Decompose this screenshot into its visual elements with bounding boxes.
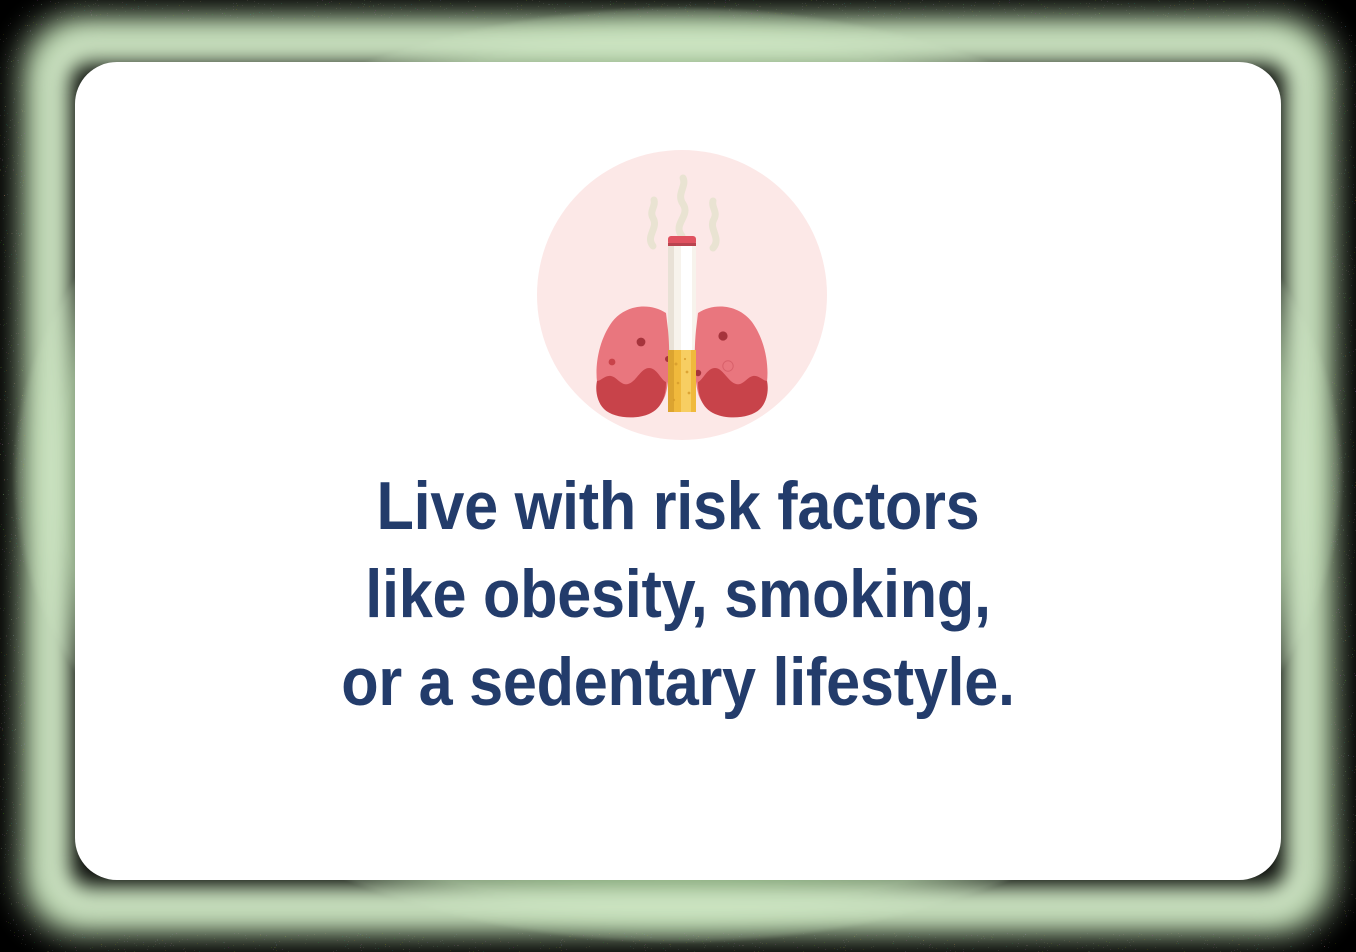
lung-spot [723, 361, 733, 371]
cigarette-paper-shade [668, 246, 674, 350]
lung-spot [718, 331, 727, 340]
cigarette-paper-highlight [681, 246, 692, 350]
smoking-lungs-icon [537, 150, 827, 440]
headline-line-3: or a sedentary lifestyle. [135, 638, 1220, 726]
headline-line-1: Live with risk factors [135, 462, 1220, 550]
content-card: Live with risk factors like obesity, smo… [75, 62, 1281, 880]
icon-container [537, 150, 827, 440]
lung-spot [637, 338, 646, 347]
cigarette-filter-shade [668, 350, 674, 412]
headline-line-2: like obesity, smoking, [135, 550, 1220, 638]
screenshot-stage: Live with risk factors like obesity, smo… [0, 0, 1356, 952]
lung-spot [609, 359, 616, 366]
page-title: Live with risk factors like obesity, smo… [75, 462, 1281, 726]
